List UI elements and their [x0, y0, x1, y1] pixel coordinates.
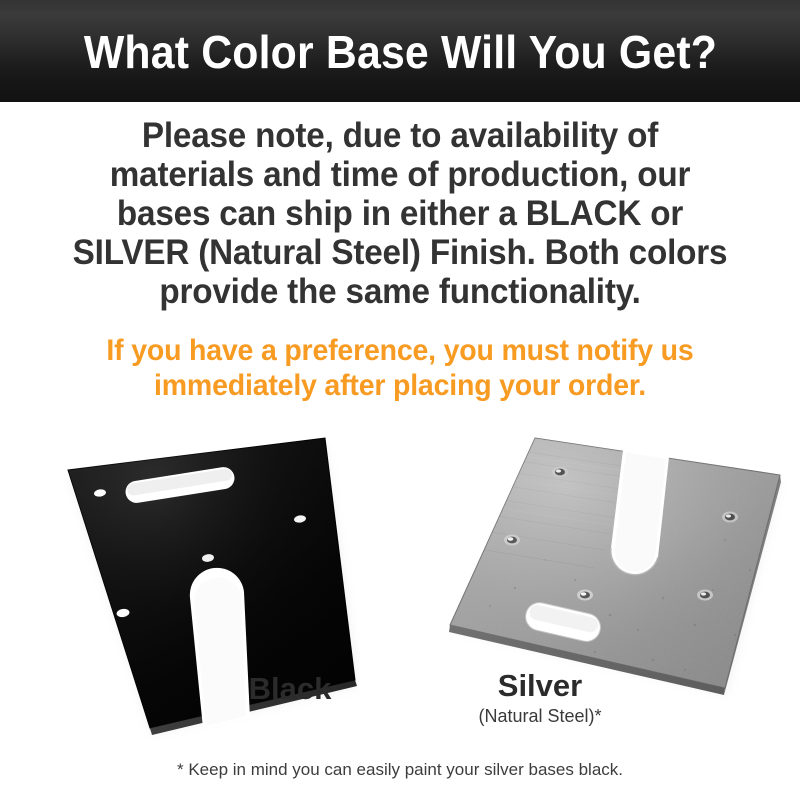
- footnote-text: * Keep in mind you can easily paint your…: [0, 760, 800, 780]
- header-banner: What Color Base Will You Get?: [0, 0, 800, 102]
- preference-block: If you have a preference, you must notif…: [40, 333, 760, 403]
- product-photo-area: [0, 420, 800, 800]
- caption-black: Black: [190, 673, 390, 704]
- caption-silver: Silver: [430, 670, 650, 701]
- notice-block: Please note, due to availability of mate…: [50, 116, 750, 311]
- notice-paragraph: Please note, due to availability of mate…: [68, 116, 733, 311]
- preference-paragraph: If you have a preference, you must notif…: [58, 333, 742, 403]
- page-title: What Color Base Will You Get?: [83, 29, 716, 75]
- caption-silver-subtitle: (Natural Steel)*: [430, 707, 650, 725]
